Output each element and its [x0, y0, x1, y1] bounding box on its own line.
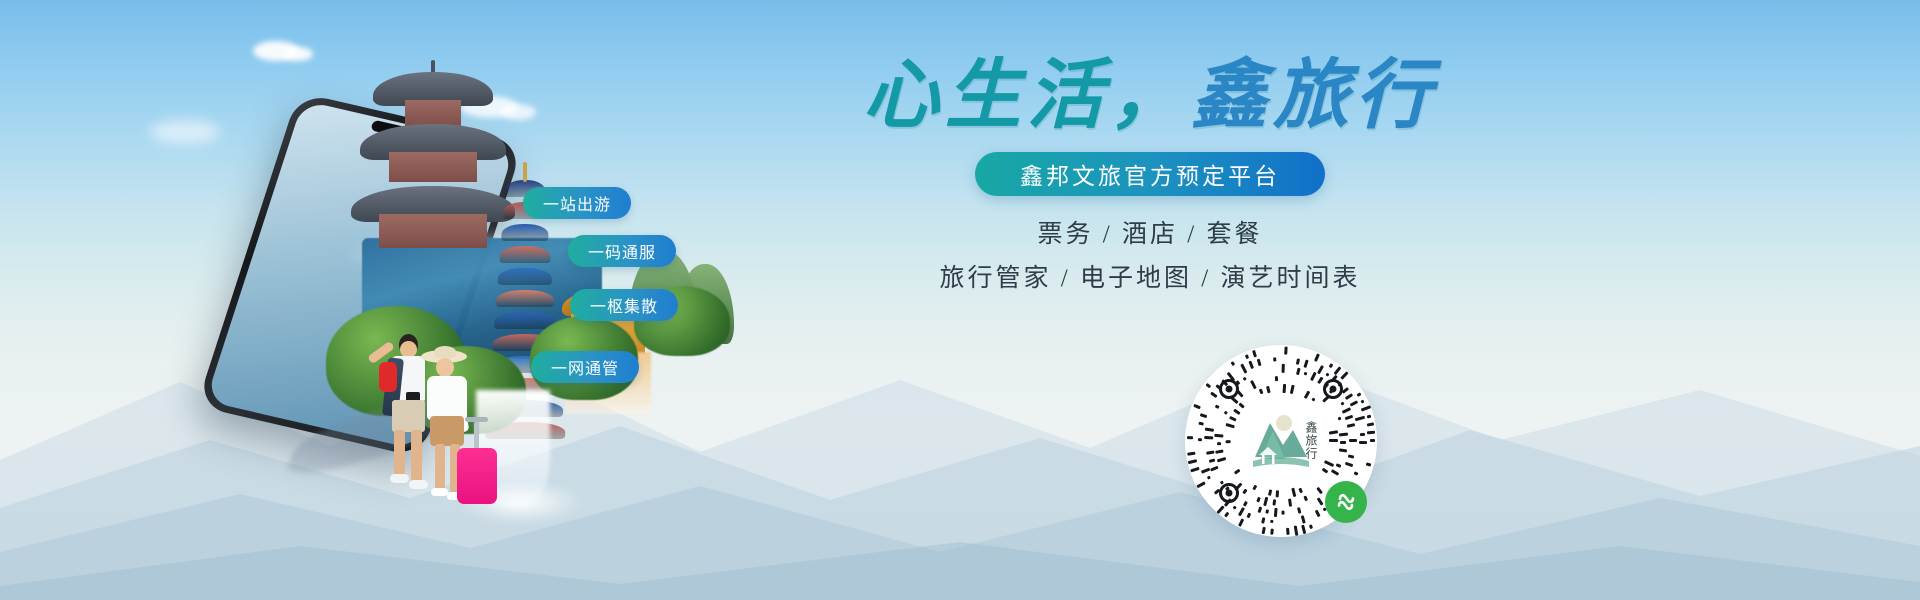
man-shoe	[390, 474, 409, 483]
qr-finder-icon	[1219, 483, 1239, 503]
woman-shorts	[430, 416, 464, 446]
platform-pill-badge[interactable]: 鑫邦文旅官方预定平台	[975, 152, 1325, 196]
qr-finder-icon	[1323, 379, 1343, 399]
tower-tier	[501, 224, 548, 241]
woman-hat-band	[434, 346, 456, 358]
banner-stage: 一站出游 一码通服 一枢集散 一网通管 心生活，鑫旅行 鑫邦文旅官方预定平台 票…	[0, 0, 1920, 600]
pagoda-tier	[389, 152, 477, 182]
platform-pill-label: 鑫邦文旅官方预定平台	[1020, 157, 1280, 191]
headline-main: 心生活，	[863, 54, 1191, 138]
feature-tag-one-code-service[interactable]: 一码通服	[568, 235, 676, 267]
traveling-couple-icon	[345, 330, 525, 530]
feature-tag-one-network-管[interactable]: 一网通管	[531, 351, 639, 383]
tower-finial	[523, 162, 527, 182]
tower-tier	[496, 290, 554, 307]
wechat-miniprogram-qr-icon[interactable]: 鑫旅行	[1185, 345, 1377, 537]
services-line-1: 票务 / 酒店 / 套餐	[840, 214, 1460, 250]
man-backpack	[379, 362, 397, 392]
qr-finder-icon	[1219, 379, 1239, 399]
page-title: 心生活，鑫旅行	[840, 58, 1460, 134]
man-shorts	[392, 400, 425, 432]
right-content-panel: 心生活，鑫旅行 鑫邦文旅官方预定平台 票务 / 酒店 / 套餐 旅行管家 / 电…	[840, 58, 1460, 294]
rolling-suitcase-icon	[457, 448, 497, 504]
man-leg	[394, 430, 405, 478]
woman-shoe	[431, 488, 448, 496]
tower-tier	[500, 246, 551, 263]
headline-tail: 鑫旅行	[1191, 54, 1437, 138]
man-leg	[411, 430, 422, 482]
woman-leg	[435, 444, 445, 492]
feature-tag-one-hub-transfer[interactable]: 一枢集散	[570, 289, 678, 321]
services-line-2: 旅行管家 / 电子地图 / 演艺时间表	[840, 258, 1460, 294]
qr-logo-text: 鑫旅行	[1304, 421, 1317, 460]
woman-face	[436, 358, 454, 377]
wechat-miniprogram-badge-icon	[1325, 481, 1367, 523]
qr-center-logo: 鑫旅行	[1237, 397, 1325, 485]
services-list: 票务 / 酒店 / 套餐 旅行管家 / 电子地图 / 演艺时间表	[840, 214, 1460, 294]
tower-tier	[498, 268, 552, 285]
feature-tag-one-stop-travel[interactable]: 一站出游	[523, 187, 631, 219]
pagoda-tier	[379, 214, 487, 248]
